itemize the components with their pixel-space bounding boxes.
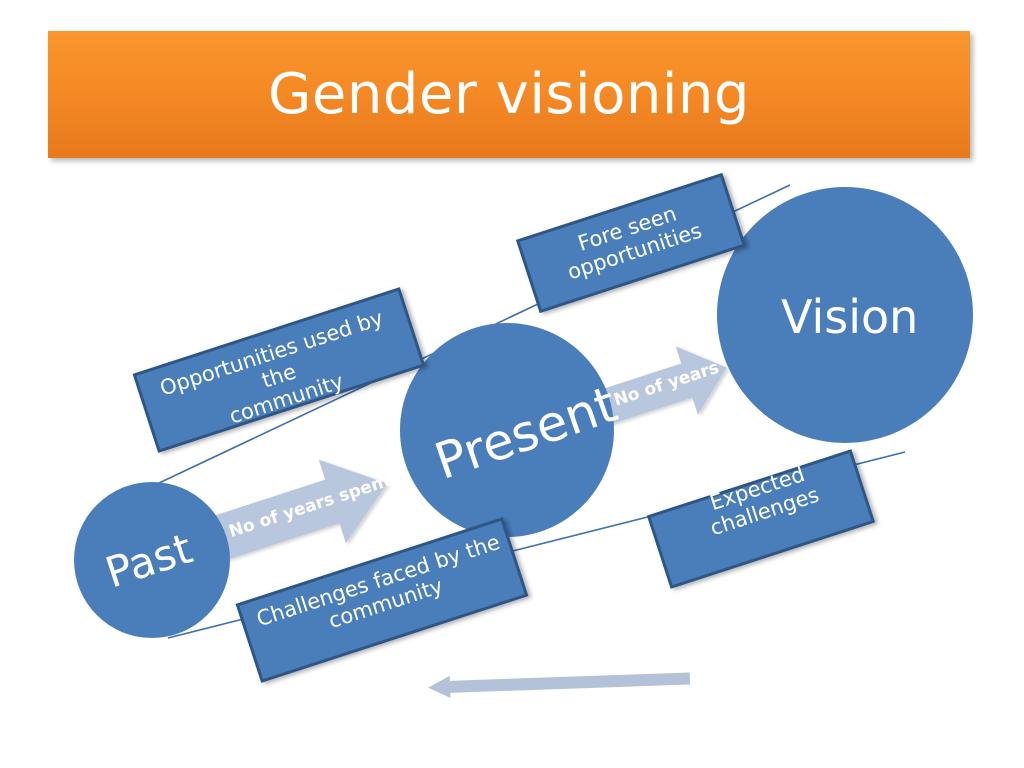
node-circle-vision[interactable]	[717, 187, 973, 443]
label-box-expected-challenges[interactable]	[649, 451, 873, 587]
diagram-canvas	[0, 0, 1024, 768]
label-box-challenges-faced[interactable]	[237, 519, 526, 681]
node-circle-present[interactable]	[400, 323, 614, 537]
timeline-back-arrow	[428, 667, 691, 698]
node-circle-past[interactable]	[74, 482, 230, 638]
slide-canvas: Gender visioning	[0, 0, 1024, 768]
label-box-fore-seen[interactable]	[518, 175, 744, 312]
